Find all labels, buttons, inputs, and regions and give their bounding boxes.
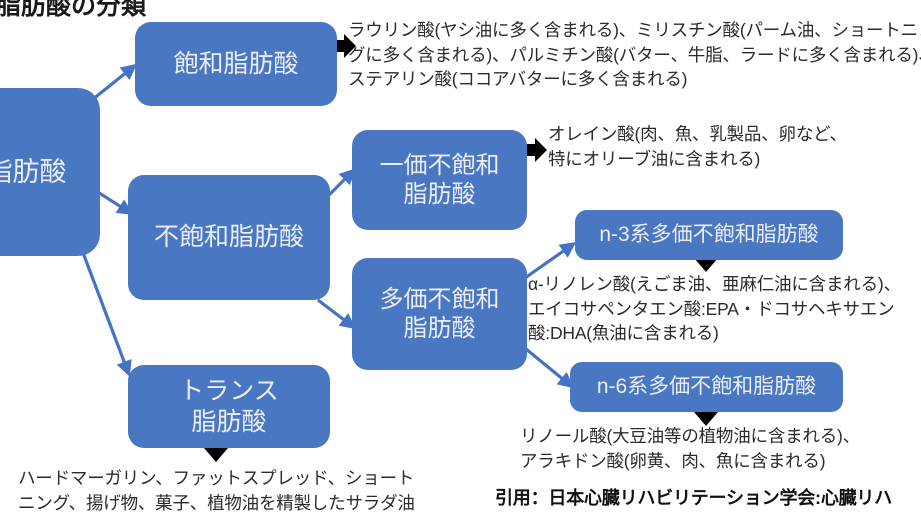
note-n3-examples: α-リノレン酸(えごま油、亜麻仁油に含まれる)、 エイコサペンタエン酸:EPA・… <box>528 272 921 346</box>
diagram-canvas: 脂肪酸の分類 脂肪酸 飽和脂肪酸 不飽和脂肪酸 トランス 脂肪酸 一価不飽和 脂… <box>0 0 921 518</box>
note-n6-examples: リノール酸(大豆油等の植物油に含まれる)、 アラキドン酸(卵黄、肉、魚に含まれる… <box>520 424 921 473</box>
note-monounsaturated-examples: オレイン酸(肉、魚、乳製品、卵など、 特にオリーブ油に含まれる) <box>548 122 921 171</box>
node-n6-label: n-6系多価不飽和脂肪酸 <box>597 374 816 400</box>
black-block-arrow-down-icon <box>694 258 718 272</box>
node-n6-polyunsaturated-fatty-acid[interactable]: n-6系多価不飽和脂肪酸 <box>570 362 843 412</box>
node-unsaturated-fatty-acid[interactable]: 不飽和脂肪酸 <box>128 175 330 300</box>
node-unsaturated-fatty-acid-label: 不飽和脂肪酸 <box>154 222 304 253</box>
note-trans-examples: ハードマーガリン、ファットスプレッド、ショート ニング、揚げ物、菓子、植物油を精… <box>18 466 498 515</box>
node-polyunsaturated-fatty-acid[interactable]: 多価不飽和 脂肪酸 <box>352 258 527 370</box>
node-trans-fatty-acid-label: トランス 脂肪酸 <box>179 376 279 437</box>
node-saturated-fatty-acid[interactable]: 飽和脂肪酸 <box>135 22 337 106</box>
citation: 引用：日本心臓リハビリテーション学会:心臓リハ <box>495 486 921 511</box>
edge-unsaturated-to-poly <box>318 300 352 326</box>
node-n3-polyunsaturated-fatty-acid[interactable]: n-3系多価不飽和脂肪酸 <box>575 210 843 260</box>
edge-root-to-trans <box>82 250 128 372</box>
node-fatty-acid-label: 脂肪酸 <box>0 156 67 189</box>
node-monounsaturated-fatty-acid[interactable]: 一価不飽和 脂肪酸 <box>352 130 527 230</box>
node-fatty-acid[interactable]: 脂肪酸 <box>0 88 100 256</box>
node-n3-label: n-3系多価不飽和脂肪酸 <box>599 222 818 248</box>
note-saturated-examples: ラウリン酸(ヤシ油に多く含まれる)、ミリスチン酸(パーム油、ショートニングに多く… <box>348 18 921 92</box>
page-title: 脂肪酸の分類 <box>0 0 146 22</box>
node-monounsaturated-fatty-acid-label: 一価不飽和 脂肪酸 <box>380 151 500 210</box>
node-polyunsaturated-fatty-acid-label: 多価不飽和 脂肪酸 <box>380 285 500 344</box>
black-block-arrow-down-icon <box>204 448 228 462</box>
node-trans-fatty-acid[interactable]: トランス 脂肪酸 <box>128 365 330 448</box>
node-saturated-fatty-acid-label: 飽和脂肪酸 <box>173 49 298 80</box>
